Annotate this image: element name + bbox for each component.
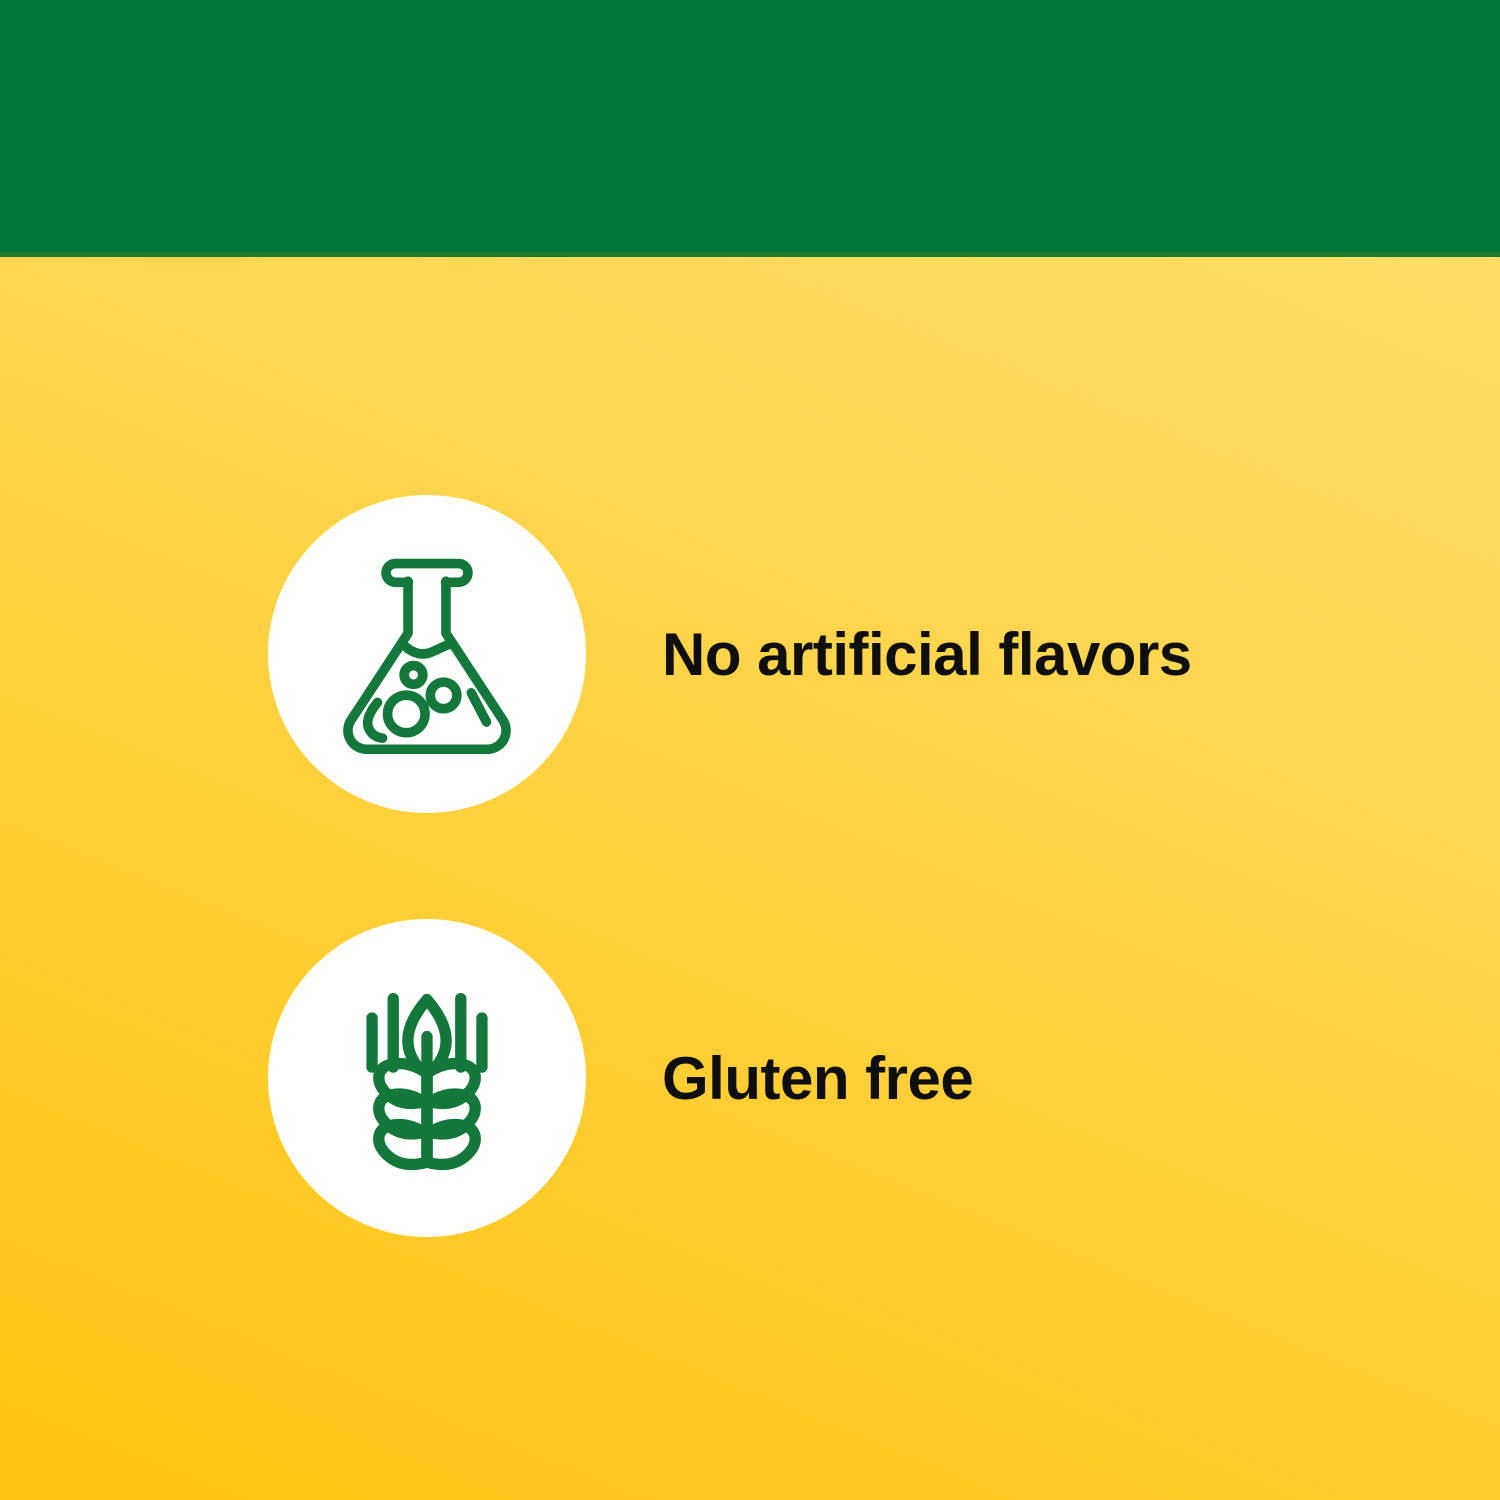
feature-item-no-artificial-flavors: No artificial flavors — [268, 495, 1448, 813]
product-benefits-banner: Quality you can trust — [0, 0, 1500, 1500]
header-divider-rule — [0, 252, 1500, 257]
icon-badge — [268, 919, 586, 1237]
wheat-icon — [318, 969, 536, 1187]
header-band — [0, 0, 1500, 252]
feature-label: No artificial flavors — [586, 620, 1448, 689]
feature-item-gluten-free: Gluten free — [268, 919, 1448, 1237]
icon-badge — [268, 495, 586, 813]
feature-label: Gluten free — [586, 1044, 1448, 1113]
flask-icon — [318, 545, 536, 763]
